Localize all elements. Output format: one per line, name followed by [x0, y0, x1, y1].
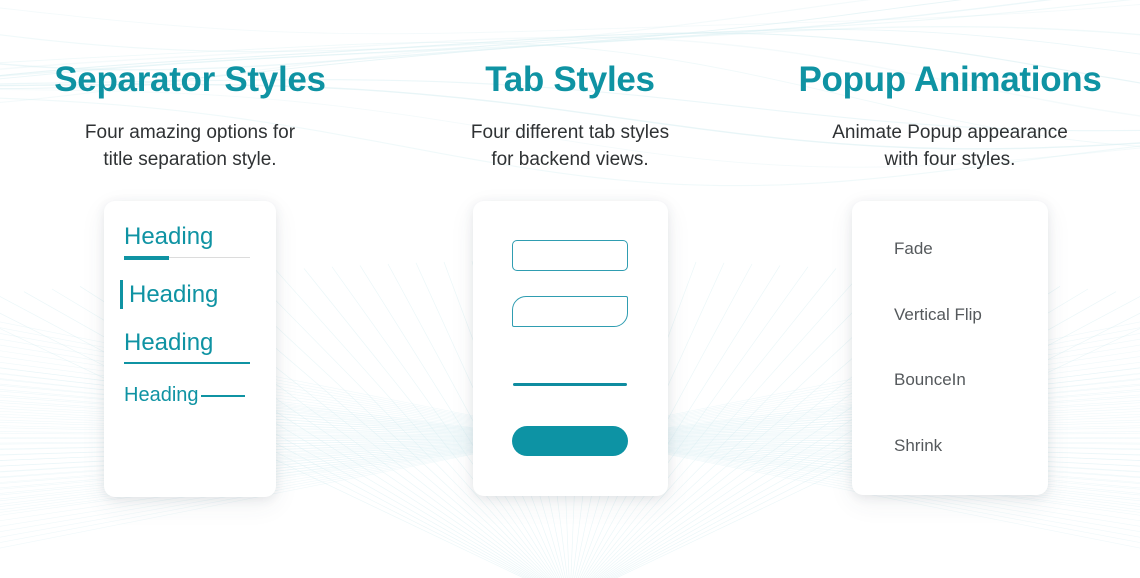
subtitle-line-1: Four amazing options for — [85, 122, 295, 143]
separator-rule-inline-dash — [201, 395, 245, 397]
separator-option-bar-over-thin-rule[interactable]: Heading — [120, 223, 260, 260]
popup-animations-card: Fade Vertical Flip BounceIn Shrink — [852, 201, 1048, 495]
subtitle-popup-animations: Animate Popup appearance with four style… — [832, 120, 1068, 174]
separator-heading-label: Heading — [120, 223, 260, 251]
tab-shape-rectangle — [512, 240, 628, 271]
separator-option-left-vertical-bar[interactable]: Heading — [120, 280, 260, 310]
subtitle-line-2: title separation style. — [103, 149, 276, 170]
separator-heading-label: Heading — [124, 384, 199, 407]
popup-animation-option-bouncein[interactable]: BounceIn — [894, 370, 1048, 390]
feature-column-separator-styles: Separator Styles Four amazing options fo… — [0, 62, 380, 578]
page-title-popup-animations: Popup Animations — [798, 62, 1101, 99]
feature-column-popup-animations: Popup Animations Animate Popup appearanc… — [760, 62, 1140, 578]
tab-shape-underline — [513, 383, 627, 386]
separator-option-inline-trailing-dash[interactable]: Heading — [120, 384, 260, 407]
separator-rule-dual — [124, 256, 250, 260]
subtitle-line-2: for backend views. — [491, 149, 648, 170]
subtitle-tab-styles: Four different tab styles for backend vi… — [471, 120, 669, 174]
feature-columns: Separator Styles Four amazing options fo… — [0, 0, 1140, 578]
popup-animation-option-fade[interactable]: Fade — [894, 239, 1048, 259]
subtitle-separator-styles: Four amazing options for title separatio… — [85, 120, 295, 174]
feature-column-tab-styles: Tab Styles Four different tab styles for… — [380, 62, 760, 578]
separator-heading-label: Heading — [129, 280, 218, 310]
separator-option-full-underline[interactable]: Heading — [120, 329, 260, 364]
subtitle-line-1: Four different tab styles — [471, 122, 669, 143]
subtitle-line-1: Animate Popup appearance — [832, 122, 1068, 143]
tab-option-filled-pill[interactable] — [512, 425, 628, 456]
separator-rule-thick — [124, 256, 169, 260]
tab-styles-card — [473, 201, 668, 496]
separator-heading-label: Heading — [120, 329, 260, 357]
tab-option-diagonal-rounded-outline[interactable] — [512, 296, 628, 327]
tab-shape-diagonal-rounded — [512, 296, 628, 327]
tab-option-underline-only[interactable] — [512, 369, 628, 400]
subtitle-line-2: with four styles. — [885, 149, 1016, 170]
page-title-separator-styles: Separator Styles — [54, 62, 325, 99]
popup-animation-option-vertical-flip[interactable]: Vertical Flip — [894, 305, 1048, 325]
separator-rule-underline — [124, 362, 250, 364]
tab-shape-filled-pill — [512, 426, 628, 456]
tab-option-rectangle-outline[interactable] — [512, 240, 628, 271]
page-title-tab-styles: Tab Styles — [485, 62, 654, 99]
separator-styles-card: Heading Heading Heading Heading — [104, 201, 276, 497]
popup-animation-option-shrink[interactable]: Shrink — [894, 436, 1048, 456]
separator-vertical-bar — [120, 280, 123, 310]
